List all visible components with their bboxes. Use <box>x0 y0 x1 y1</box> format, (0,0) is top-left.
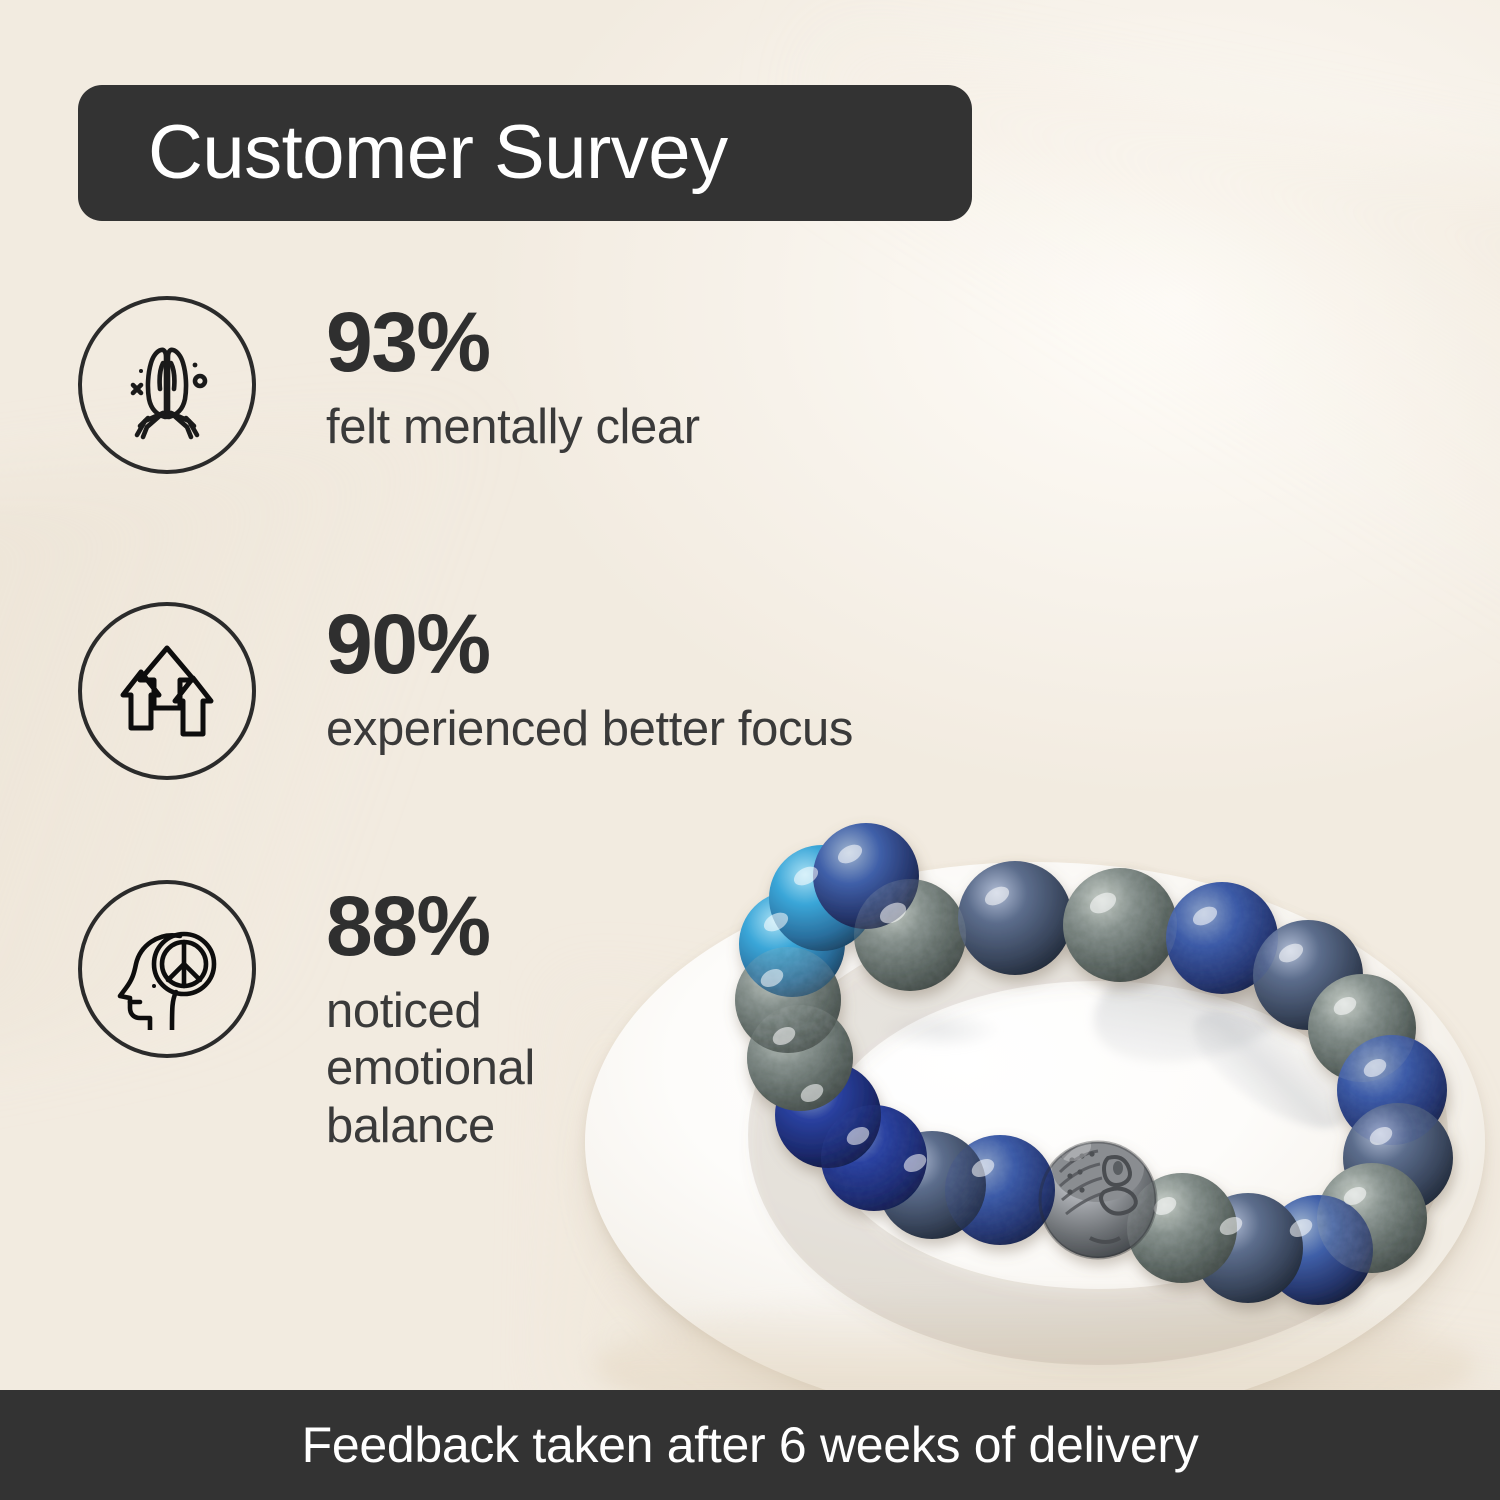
stat-label: noticed emotional balance <box>326 983 535 1156</box>
survey-stats-list: 93% felt mentally clear 90% experienced … <box>0 0 1500 1500</box>
footer-note-bar: Feedback taken after 6 weeks of delivery <box>0 1390 1500 1500</box>
footer-note: Feedback taken after 6 weeks of delivery <box>302 1416 1199 1474</box>
three-up-arrows-icon <box>78 602 256 780</box>
praying-hands-icon <box>78 296 256 474</box>
stat-label: experienced better focus <box>326 701 853 759</box>
head-peace-sign-icon <box>78 880 256 1058</box>
stat-item-mentally-clear: 93% felt mentally clear <box>78 296 700 474</box>
stat-percent: 90% <box>326 604 853 685</box>
stat-label: felt mentally clear <box>326 399 700 457</box>
stat-item-emotional-balance: 88% noticed emotional balance <box>78 880 535 1156</box>
stat-text-block: 93% felt mentally clear <box>326 296 700 456</box>
stat-text-block: 90% experienced better focus <box>326 602 853 758</box>
stat-text-block: 88% noticed emotional balance <box>326 880 535 1156</box>
stat-percent: 88% <box>326 886 535 967</box>
stat-percent: 93% <box>326 302 700 383</box>
stat-item-better-focus: 90% experienced better focus <box>78 602 853 780</box>
